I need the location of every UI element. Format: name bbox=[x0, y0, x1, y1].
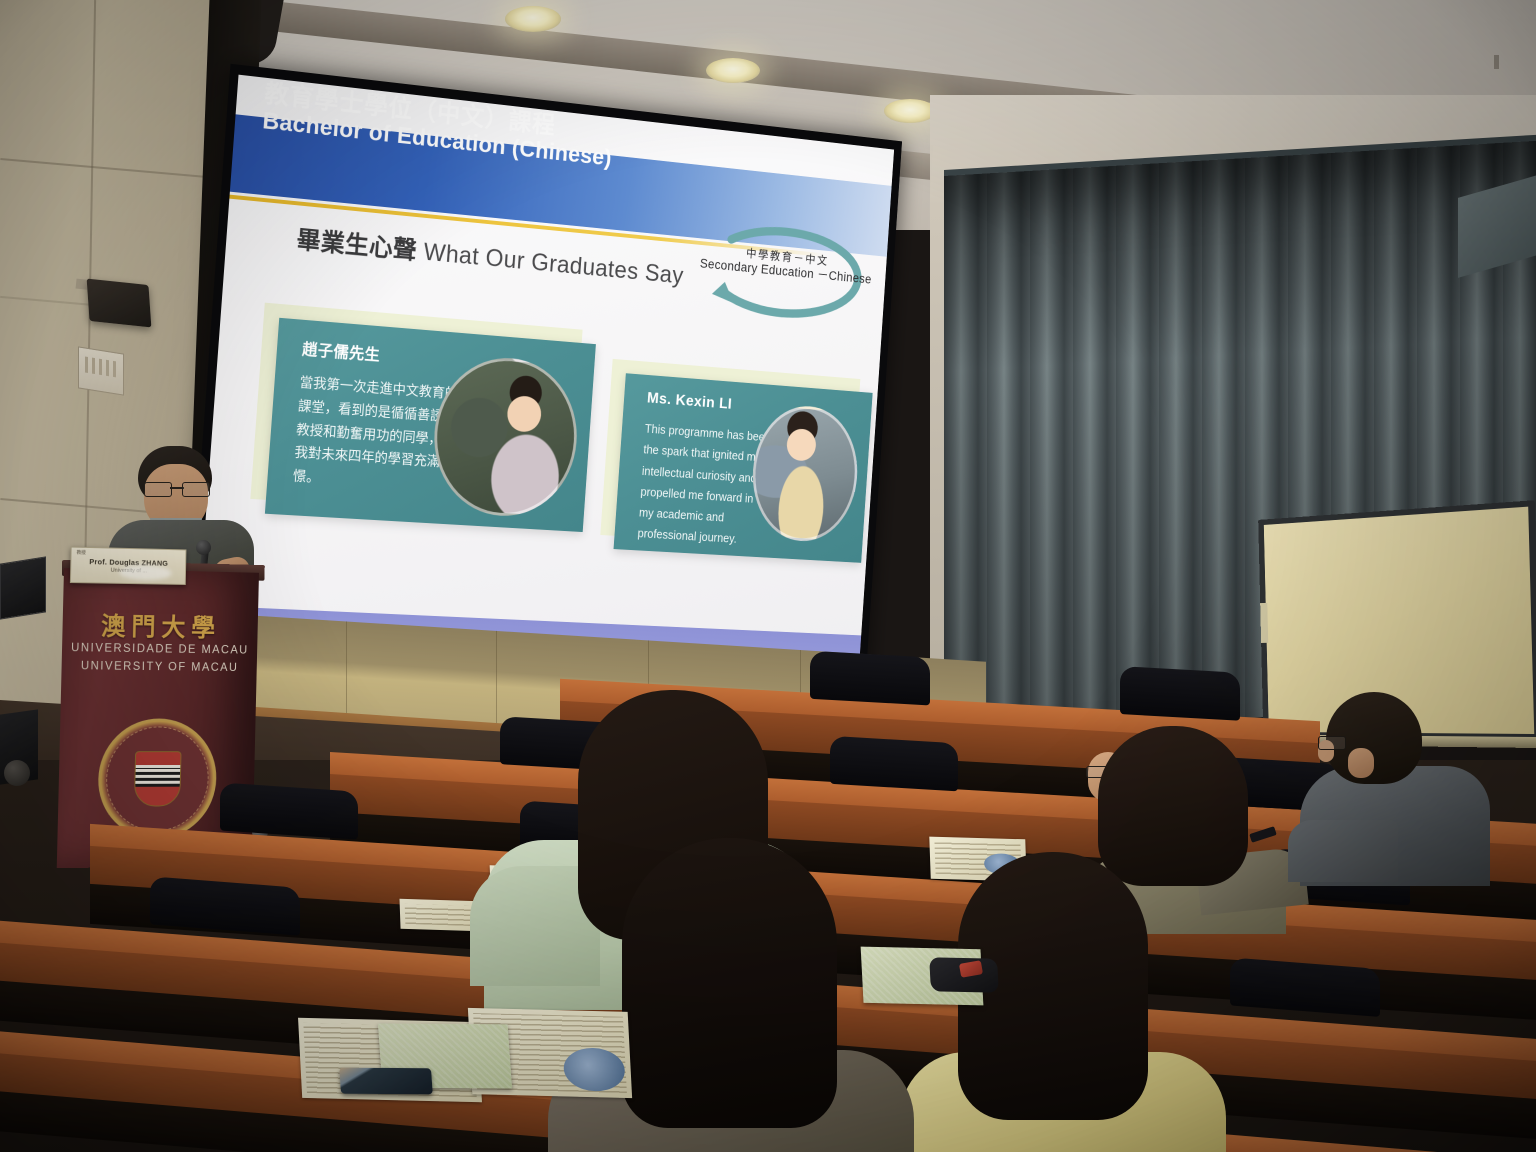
name-plate-glare bbox=[119, 565, 172, 581]
glasses-icon bbox=[1318, 736, 1346, 750]
mobile-phone bbox=[339, 1068, 433, 1095]
card-body: 趙子儒先生 當我第一次走進中文教育的課堂，看到的是循循善誘的教授和勤奮用功的同學… bbox=[265, 318, 596, 532]
chair bbox=[810, 651, 930, 706]
glasses-icon bbox=[144, 482, 210, 495]
name-plate: 教授 Prof. Douglas ZHANG University of ... bbox=[70, 546, 187, 584]
ceiling-hook bbox=[1494, 55, 1499, 69]
whiteboard-hinge bbox=[1260, 603, 1268, 643]
attendee-man-grey bbox=[1300, 692, 1490, 882]
testimonial-name: Ms. Kexin LI bbox=[646, 390, 732, 413]
testimonial-name: 趙子儒先生 bbox=[301, 336, 381, 366]
chair bbox=[220, 782, 358, 839]
card-body: Ms. Kexin LI This programme has been the… bbox=[614, 373, 873, 563]
name-plate-rank: 教授 bbox=[77, 550, 86, 556]
slide-subtitle-cn: 畢業生心聲 bbox=[296, 226, 418, 265]
wall-seam bbox=[0, 296, 95, 306]
wall-control-panel[interactable] bbox=[78, 346, 124, 395]
attendee-arm bbox=[1288, 820, 1398, 882]
lectern-name-en: UNIVERSITY OF MACAU bbox=[61, 660, 256, 674]
av-knob bbox=[4, 760, 30, 786]
wall-seam bbox=[0, 158, 229, 180]
lectern-name-cn: 澳門大學 bbox=[62, 606, 258, 645]
lecture-hall-photo: 教育學士學位（中文）課程 Bachelor of Education (Chin… bbox=[0, 0, 1536, 1152]
projection-screen: 教育學士學位（中文）課程 Bachelor of Education (Chin… bbox=[185, 64, 902, 697]
ceiling-downlight bbox=[884, 99, 936, 123]
wall-speaker bbox=[87, 279, 152, 328]
brochure bbox=[400, 899, 481, 932]
chair bbox=[1120, 666, 1240, 721]
testimonial-card: Ms. Kexin LI This programme has been the… bbox=[614, 373, 873, 563]
attendee-hand bbox=[1348, 748, 1374, 778]
lectern-name-pt: UNIVERSIDADE DE MACAU bbox=[62, 642, 257, 657]
attendee-front-centre bbox=[540, 838, 910, 1152]
attendee-hair bbox=[622, 838, 837, 1128]
testimonial-card: 趙子儒先生 當我第一次走進中文教育的課堂，看到的是循循善誘的教授和勤奮用功的同學… bbox=[265, 318, 596, 532]
slide-subtitle-en: What Our Graduates Say bbox=[423, 238, 685, 289]
ceiling-downlight bbox=[505, 6, 561, 32]
confidence-monitor bbox=[0, 556, 46, 619]
programme-badge: 中學教育－中文 Secondary Education －Chinese bbox=[691, 214, 879, 331]
mobile-phone bbox=[1249, 826, 1277, 843]
chair bbox=[830, 736, 958, 792]
university-crest-icon bbox=[97, 718, 218, 840]
ceiling-downlight bbox=[706, 58, 760, 83]
crest-shield bbox=[134, 751, 182, 807]
presentation-slide: 教育學士學位（中文）課程 Bachelor of Education (Chin… bbox=[195, 75, 894, 689]
microphone-icon bbox=[196, 540, 211, 555]
